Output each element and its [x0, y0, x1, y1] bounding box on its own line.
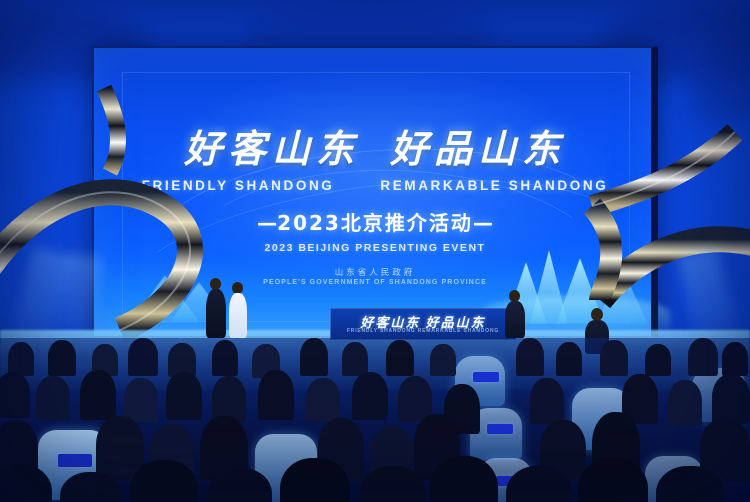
podium-banner: 好客山东 好品山东 FRIENDLY SHANDONG REMARKABLE S…	[330, 308, 516, 340]
organizer-en: PEOPLE'S GOVERNMENT OF SHANDONG PROVINCE	[92, 279, 658, 286]
audience-member	[36, 376, 70, 420]
chair-placard	[487, 424, 513, 434]
organizer-cn: 山东省人民政府	[92, 266, 658, 278]
audience-member	[386, 340, 414, 376]
chair-placard	[58, 454, 92, 467]
female-host-body	[229, 293, 247, 338]
male-host-body	[206, 289, 226, 338]
audience-member	[342, 342, 368, 376]
subtitle-dash-right: —	[473, 211, 493, 235]
female-host	[228, 282, 248, 338]
audience-member	[80, 370, 116, 420]
title-cn-left: 好客山东	[184, 118, 360, 173]
audience-member	[128, 338, 158, 376]
audience-member	[8, 342, 34, 376]
audience-member	[352, 372, 388, 420]
audience-member	[48, 340, 76, 376]
audience-area	[0, 338, 750, 502]
title-en-right: REMARKABLE SHANDONG	[380, 178, 608, 193]
subtitle-en: 2023 BEIJING PRESENTING EVENT	[92, 242, 658, 254]
subtitle-dash-left: —	[257, 211, 277, 235]
audience-member	[688, 338, 718, 376]
audience-member	[712, 374, 750, 424]
event-photo: 好客山东好品山东 FRIENDLY SHANDONG REMARKABLE SH…	[0, 0, 750, 502]
audience-member	[668, 380, 702, 426]
audience-member	[600, 340, 628, 376]
title-cn-right: 好品山东	[390, 118, 566, 173]
audience-member	[722, 342, 748, 376]
audience-member	[530, 378, 564, 424]
audience-member	[300, 338, 328, 376]
attendant-left-stage	[505, 290, 525, 338]
audience-member	[258, 370, 294, 420]
title-en-left: FRIENDLY SHANDONG	[142, 178, 335, 193]
audience-member	[0, 372, 30, 418]
audience-member	[306, 378, 340, 422]
audience-member	[212, 376, 246, 422]
audience-member	[645, 344, 671, 376]
subtitle-cn-line: —2023北京推介活动—	[92, 207, 658, 236]
podium-banner-en: FRIENDLY SHANDONG REMARKABLE SHANDONG	[331, 328, 515, 334]
chair-placard	[473, 372, 499, 382]
audience-member	[556, 342, 582, 376]
male-host	[205, 278, 227, 338]
audience-member	[124, 378, 158, 422]
audience-member	[212, 340, 238, 376]
screen-title-block: 好客山东好品山东 FRIENDLY SHANDONG REMARKABLE SH…	[92, 118, 658, 254]
attendant-left-stage-body	[505, 301, 525, 338]
subtitle-cn: 2023北京推介活动	[277, 211, 473, 235]
audience-member	[516, 338, 544, 376]
audience-member	[166, 372, 202, 420]
audience-member	[430, 344, 456, 376]
